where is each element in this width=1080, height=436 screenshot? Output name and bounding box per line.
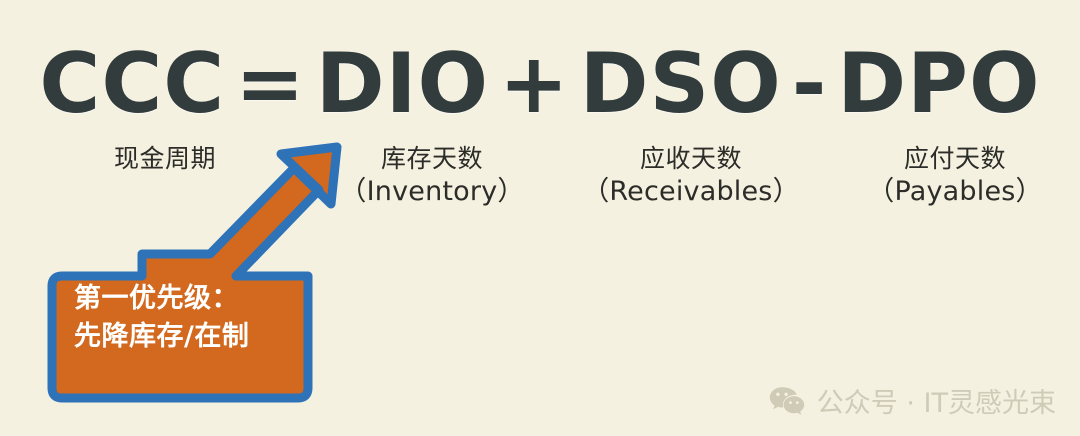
formula-operator-plus: + [499, 42, 570, 125]
label-column-dpo: 应付天数 （Payables） [842, 144, 1068, 207]
label-column-ccc: 现金周期 [60, 144, 270, 176]
label-dso-cn: 应收天数 [568, 144, 814, 174]
formula-term-dio: DIO [316, 42, 489, 125]
callout-line-1: 第一优先级： [74, 280, 304, 318]
formula-headline: CCC=DIO+DSO-DPO [0, 42, 1080, 125]
formula-term-dpo: DPO [837, 42, 1040, 125]
label-dpo-cn: 应付天数 [842, 144, 1068, 174]
label-column-dio: 库存天数 （Inventory） [322, 144, 542, 207]
callout-line-2: 先降库存/在制 [74, 318, 304, 356]
label-column-dso: 应收天数 （Receivables） [568, 144, 814, 207]
formula-term-dso: DSO [580, 42, 782, 125]
watermark: 公众号 · IT灵感光束 [769, 381, 1056, 420]
formula-operator-minus: - [792, 42, 827, 125]
label-dpo-en: （Payables） [842, 176, 1068, 208]
label-ccc-cn: 现金周期 [60, 144, 270, 174]
formula-term-ccc: CCC [39, 42, 225, 125]
infographic-canvas: CCC=DIO+DSO-DPO 现金周期 库存天数 （Inventory） 应收… [0, 0, 1080, 436]
formula-label-row: 现金周期 库存天数 （Inventory） 应收天数 （Receivables）… [0, 140, 1080, 236]
label-dso-en: （Receivables） [568, 176, 814, 208]
watermark-text: 公众号 · IT灵感光束 [817, 381, 1056, 420]
callout-text: 第一优先级： 先降库存/在制 [74, 280, 304, 357]
label-dio-en: （Inventory） [322, 176, 542, 208]
formula-operator-equals: = [235, 42, 306, 125]
label-dio-cn: 库存天数 [322, 144, 542, 174]
wechat-icon [769, 385, 805, 417]
